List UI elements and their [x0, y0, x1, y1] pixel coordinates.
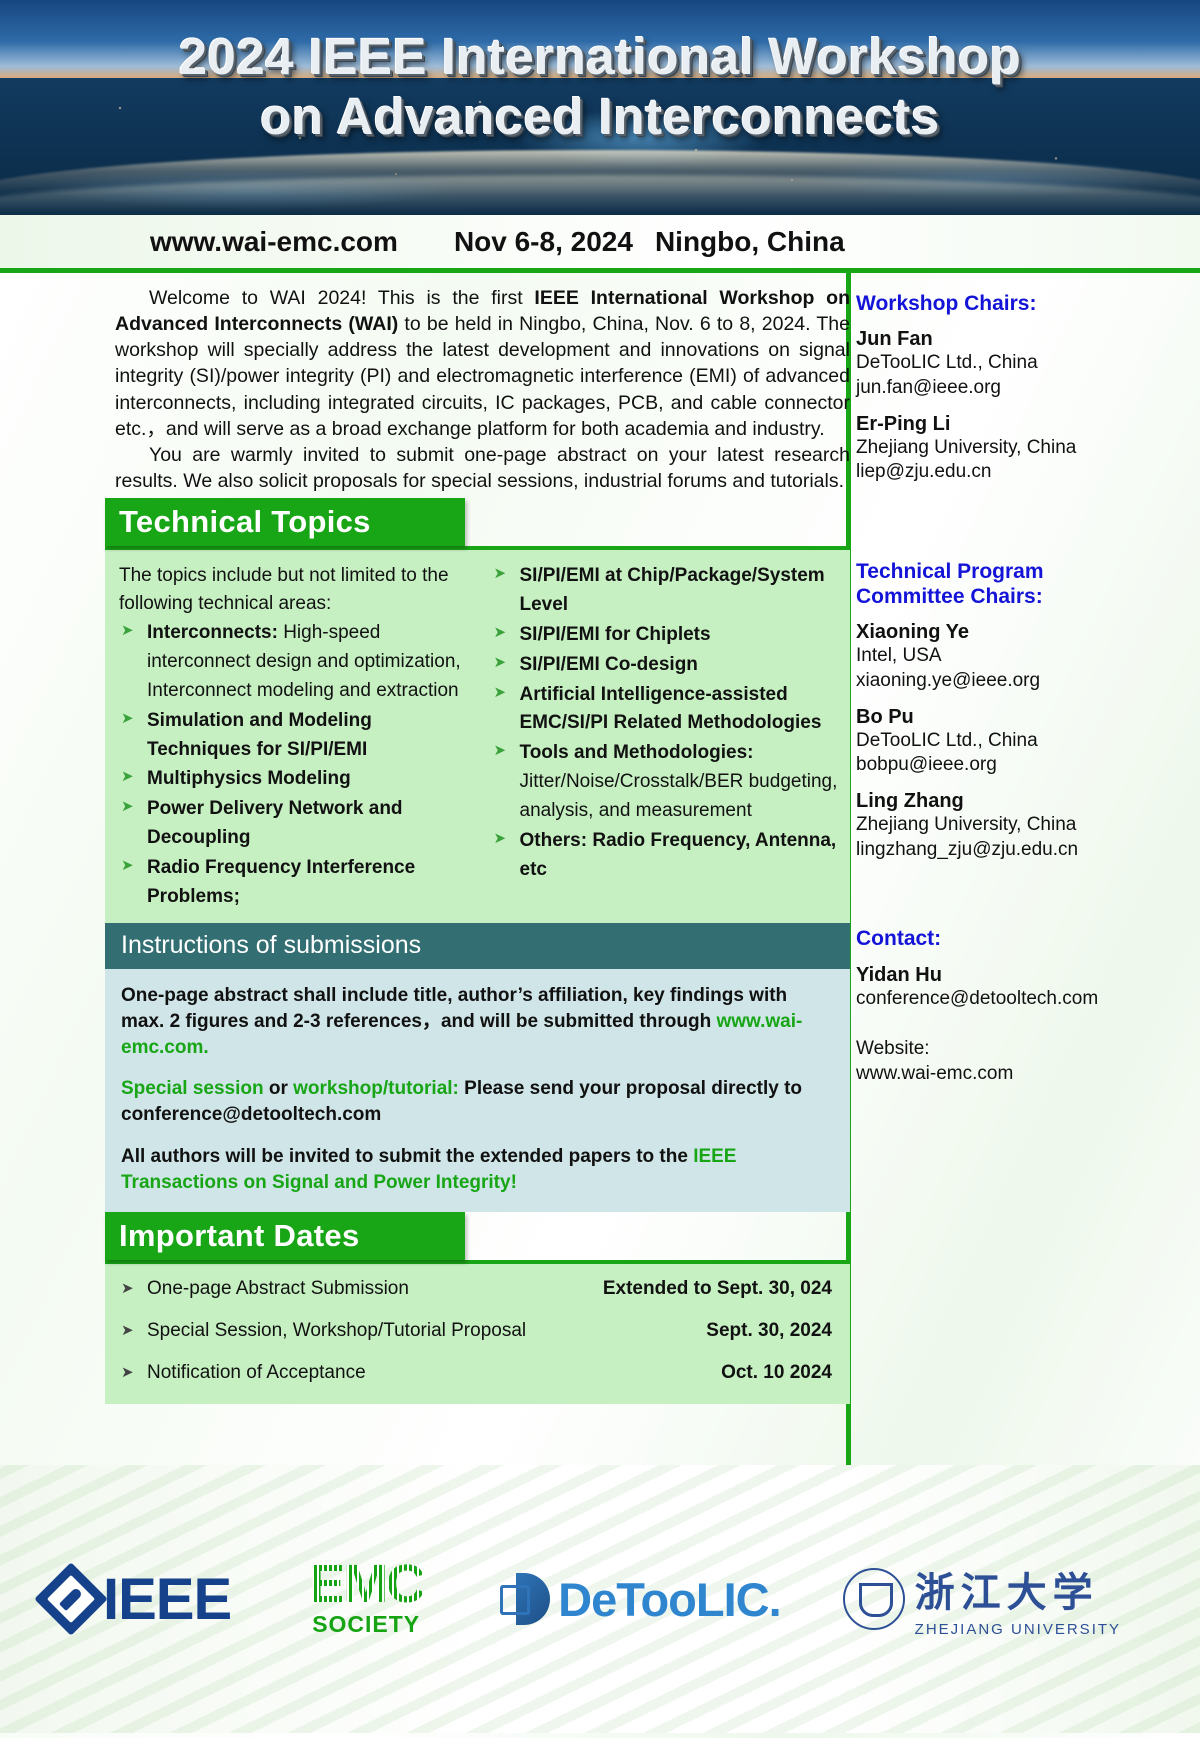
instructions-heading-label: Instructions of submissions	[105, 931, 421, 960]
technical-topics-right-column: SI/PI/EMI at Chip/Package/System LevelSI…	[478, 562, 851, 913]
topic-list-item: Power Delivery Network and Decoupling	[119, 795, 470, 853]
zhejiang-university-logo: 浙江大学 ZHEJIANG UNIVERSITY	[843, 1560, 1121, 1638]
chair-entry: Er-Ping LiZhejiang University, Chinaliep…	[856, 413, 1156, 485]
tpc-chairs-list: Xiaoning YeIntel, USAxiaoning.ye@ieee.or…	[856, 621, 1156, 862]
important-date-label: One-page Abstract Submission	[119, 1278, 409, 1300]
hero-banner: 2024 IEEE International Workshop on Adva…	[0, 0, 1200, 215]
chair-entry: Jun FanDeTooLIC Ltd., Chinajun.fan@ieee.…	[856, 328, 1156, 400]
event-dates: Nov 6-8, 2024	[454, 226, 633, 258]
intro-p1-part1: Welcome to WAI 2024! This is the first	[149, 287, 534, 309]
ieee-diamond-icon	[34, 1562, 108, 1636]
important-date-value: Extended to Sept. 30, 024	[603, 1278, 832, 1300]
intro-paragraph-2: You are warmly invited to submit one-pag…	[115, 442, 850, 494]
important-date-row: Special Session, Workshop/Tutorial Propo…	[119, 1320, 832, 1342]
chair-name: Er-Ping Li	[856, 413, 1156, 436]
chair-email[interactable]: xiaoning.ye@ieee.org	[856, 669, 1156, 694]
technical-topics-heading: Technical Topics	[105, 498, 465, 546]
chair-email[interactable]: jun.fan@ieee.org	[856, 376, 1156, 401]
instructions-body: One-page abstract shall include title, a…	[105, 969, 850, 1212]
topic-list-item: SI/PI/EMI for Chiplets	[492, 621, 843, 650]
chair-name: Bo Pu	[856, 706, 1156, 729]
chair-affiliation: DeTooLIC Ltd., China	[856, 351, 1156, 376]
important-date-value: Oct. 10 2024	[721, 1362, 832, 1384]
topic-list-item: Interconnects: High-speed interconnect d…	[119, 619, 470, 706]
detoolic-logo: DeTooLIC.	[498, 1572, 781, 1627]
topic-list-item: Radio Frequency Interference Problems;	[119, 854, 470, 912]
chair-affiliation: Zhejiang University, China	[856, 436, 1156, 461]
topic-list-item: Simulation and Modeling Techniques for S…	[119, 707, 470, 765]
topic-item-bold: Artificial Intelligence-assisted EMC/SI/…	[520, 684, 822, 734]
page-title-line1: 2024 IEEE International Workshop	[179, 28, 1022, 85]
instructions-p1-text: One-page abstract shall include title, a…	[121, 985, 787, 1032]
technical-topics-right-list: SI/PI/EMI at Chip/Package/System LevelSI…	[492, 562, 843, 885]
intro-paragraph-1: Welcome to WAI 2024! This is the first I…	[115, 285, 850, 442]
zju-english-name: ZHEJIANG UNIVERSITY	[915, 1621, 1121, 1638]
topic-item-bold: Multiphysics Modeling	[147, 768, 351, 789]
chair-email[interactable]: lingzhang_zju@zju.edu.cn	[856, 838, 1156, 863]
workshop-chairs-heading: Workshop Chairs:	[856, 291, 1156, 316]
topic-item-bold: Radio Frequency Interference Problems;	[147, 857, 415, 907]
topic-item-bold: Power Delivery Network and Decoupling	[147, 798, 403, 848]
chair-entry: Xiaoning YeIntel, USAxiaoning.ye@ieee.or…	[856, 621, 1156, 693]
topic-item-detail: Jitter/Noise/Crosstalk/BER budgeting, an…	[520, 771, 838, 821]
technical-topics-left-list: Interconnects: High-speed interconnect d…	[119, 619, 470, 912]
workshop-tutorial-label: workshop/tutorial:	[293, 1078, 459, 1099]
sidebar-website-value[interactable]: www.wai-emc.com	[856, 1062, 1156, 1087]
technical-topics-body: The topics include but not limited to th…	[105, 550, 850, 923]
topic-item-bold: Simulation and Modeling Techniques for S…	[147, 710, 372, 760]
sidebar-column: Workshop Chairs: Jun FanDeTooLIC Ltd., C…	[856, 273, 1156, 1087]
important-date-value: Sept. 30, 2024	[706, 1320, 832, 1342]
important-date-label: Notification of Acceptance	[119, 1362, 366, 1384]
instructions-heading: Instructions of submissions	[105, 923, 850, 969]
chair-entry: Bo PuDeTooLIC Ltd., Chinabobpu@ieee.org	[856, 706, 1156, 778]
topic-list-item: Others: Radio Frequency, Antenna, etc	[492, 827, 843, 885]
instructions-p3-text: All authors will be invited to submit th…	[121, 1146, 693, 1167]
chair-affiliation: Intel, USA	[856, 644, 1156, 669]
page-title-line2: on Advanced Interconnects	[0, 90, 1200, 144]
workshop-chairs-list: Jun FanDeTooLIC Ltd., Chinajun.fan@ieee.…	[856, 328, 1156, 485]
page-title: 2024 IEEE International Workshop on Adva…	[0, 30, 1200, 143]
important-date-row: One-page Abstract SubmissionExtended to …	[119, 1278, 832, 1300]
important-dates-heading: Important Dates	[105, 1212, 465, 1260]
topic-list-item: Artificial Intelligence-assisted EMC/SI/…	[492, 681, 843, 739]
ieee-logo-text: IEEE	[103, 1566, 231, 1633]
topic-list-item: SI/PI/EMI at Chip/Package/System Level	[492, 562, 843, 620]
topic-list-item: Multiphysics Modeling	[119, 765, 470, 794]
website-label: Website:	[856, 1037, 1156, 1062]
event-location: Ningbo, China	[655, 226, 845, 258]
topic-item-bold: SI/PI/EMI at Chip/Package/System Level	[520, 565, 825, 615]
topic-item-bold: SI/PI/EMI for Chiplets	[520, 624, 711, 645]
contact-email[interactable]: conference@detooltech.com	[856, 987, 1156, 1012]
intro-text: Welcome to WAI 2024! This is the first I…	[105, 273, 850, 498]
topic-list-item: SI/PI/EMI Co-design	[492, 651, 843, 680]
chair-affiliation: DeTooLIC Ltd., China	[856, 729, 1156, 754]
chair-name: Xiaoning Ye	[856, 621, 1156, 644]
website-link[interactable]: www.wai-emc.com	[150, 226, 398, 258]
chair-name: Ling Zhang	[856, 790, 1156, 813]
important-date-row: Notification of AcceptanceOct. 10 2024	[119, 1362, 832, 1384]
tpc-chairs-heading: Technical Program Committee Chairs:	[856, 559, 1156, 609]
important-dates-body: One-page Abstract SubmissionExtended to …	[105, 1264, 850, 1404]
topic-item-bold: Tools and Methodologies:	[520, 742, 754, 763]
topic-list-item: Tools and Methodologies: Jitter/Noise/Cr…	[492, 739, 843, 826]
zju-logo-textblock: 浙江大学 ZHEJIANG UNIVERSITY	[915, 1560, 1121, 1638]
sponsor-logos: IEEE EMC SOCIETY DeTooLIC. 浙江大学 ZHEJIANG…	[0, 1465, 1200, 1733]
contact-name: Yidan Hu	[856, 964, 1156, 987]
instructions-p2-mid: or	[264, 1078, 294, 1099]
important-date-label: Special Session, Workshop/Tutorial Propo…	[119, 1320, 526, 1342]
chair-email[interactable]: bobpu@ieee.org	[856, 753, 1156, 778]
topic-item-bold: Others: Radio Frequency, Antenna, etc	[520, 830, 837, 880]
important-dates-heading-label: Important Dates	[105, 1218, 359, 1254]
topic-item-bold: Interconnects:	[147, 622, 278, 643]
emc-society-subtext: SOCIETY	[309, 1611, 423, 1638]
special-session-label: Special session	[121, 1078, 264, 1099]
ieee-logo: IEEE	[45, 1566, 231, 1633]
chair-name: Jun Fan	[856, 328, 1156, 351]
info-bar: www.wai-emc.com Nov 6-8, 2024 Ningbo, Ch…	[0, 215, 1200, 273]
main-column: Welcome to WAI 2024! This is the first I…	[105, 273, 850, 1404]
contact-heading: Contact:	[856, 926, 1156, 951]
detoolic-mark-icon	[498, 1573, 550, 1625]
emc-society-logo: EMC SOCIETY	[309, 1560, 423, 1639]
chair-affiliation: Zhejiang University, China	[856, 813, 1156, 838]
emc-logo-text: EMC	[309, 1560, 423, 1610]
zju-chinese-name: 浙江大学	[915, 1560, 1121, 1618]
topic-item-bold: SI/PI/EMI Co-design	[520, 654, 698, 675]
instructions-paragraph-2: Special session or workshop/tutorial: Pl…	[121, 1076, 834, 1128]
technical-topics-left-column: The topics include but not limited to th…	[105, 562, 478, 913]
zju-seal-icon	[843, 1568, 905, 1630]
chair-entry: Ling ZhangZhejiang University, Chinaling…	[856, 790, 1156, 862]
chair-email[interactable]: liep@zju.edu.cn	[856, 460, 1156, 485]
instructions-paragraph-3: All authors will be invited to submit th…	[121, 1144, 834, 1196]
detoolic-logo-text: DeTooLIC.	[558, 1572, 781, 1627]
technical-topics-heading-label: Technical Topics	[105, 504, 371, 540]
instructions-paragraph-1: One-page abstract shall include title, a…	[121, 983, 834, 1060]
technical-topics-lead: The topics include but not limited to th…	[119, 562, 470, 617]
